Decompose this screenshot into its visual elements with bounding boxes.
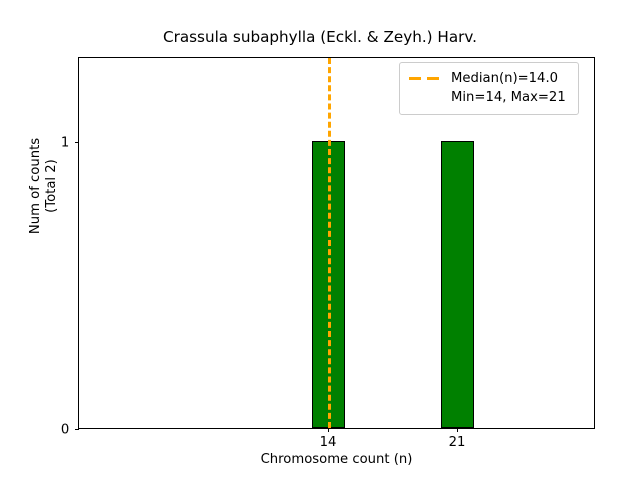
legend[interactable]: Median(n)=14.0 Min=14, Max=21 (399, 62, 579, 115)
ytick-label-0: 0 (61, 423, 69, 438)
median-line (328, 58, 331, 428)
xtick-label-14: 14 (320, 435, 337, 450)
xtick-mark-21 (457, 428, 458, 432)
legend-item-median: Median(n)=14.0 (451, 70, 566, 89)
x-axis-label: Chromosome count (n) (78, 452, 595, 467)
chart-title: Crassula subaphylla (Eckl. & Zeyh.) Harv… (0, 28, 640, 46)
median-line-swatch-icon (409, 70, 443, 87)
plot-inner: 0 1 14 21 Median(n)=14.0 Min=14, Max=21 (79, 58, 594, 428)
ytick-mark-1: 1 (75, 142, 79, 143)
plot-area: 0 1 14 21 Median(n)=14.0 Min=14, Max=21 (78, 57, 595, 429)
bar-21[interactable] (441, 141, 474, 428)
xtick-label-21: 21 (449, 435, 466, 450)
chart-figure: Crassula subaphylla (Eckl. & Zeyh.) Harv… (0, 0, 640, 480)
y-axis-label: Num of counts (Total 2) (22, 0, 66, 372)
y-axis-label-line1: Num of counts (28, 138, 43, 234)
ytick-mark-0: 0 (75, 429, 79, 430)
legend-text: Median(n)=14.0 Min=14, Max=21 (451, 70, 566, 107)
y-axis-label-line2: (Total 2) (44, 138, 60, 234)
legend-item-range: Min=14, Max=21 (451, 89, 566, 108)
xtick-mark-14 (328, 428, 329, 432)
